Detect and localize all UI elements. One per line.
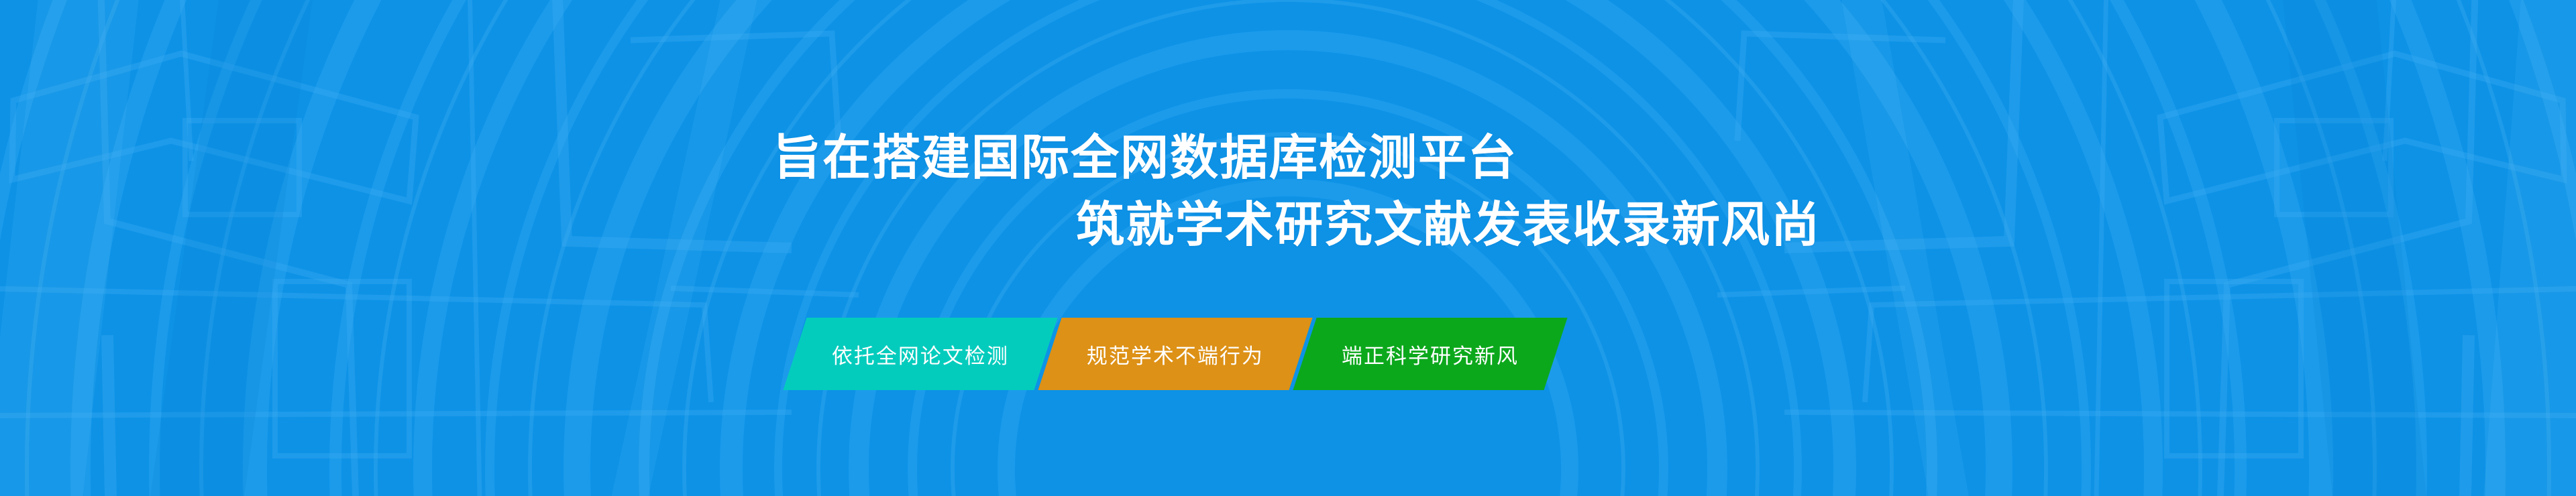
- badge-plagiarism-detection[interactable]: 依托全网论文检测: [783, 318, 1057, 390]
- badge-research-integrity[interactable]: 端正科学研究新风: [1293, 318, 1567, 390]
- feature-badge-strip: 依托全网论文检测 规范学术不端行为 端正科学研究新风: [795, 318, 1556, 390]
- badge-label: 规范学术不端行为: [1087, 339, 1264, 369]
- badge-label: 端正科学研究新风: [1342, 339, 1519, 369]
- badge-label: 依托全网论文检测: [832, 339, 1009, 369]
- hero-banner: 旨在搭建国际全网数据库检测平台 筑就学术研究文献发表收录新风尚 依托全网论文检测…: [0, 0, 2576, 496]
- background-decoration: [0, 0, 2576, 496]
- badge-academic-misconduct[interactable]: 规范学术不端行为: [1038, 318, 1312, 390]
